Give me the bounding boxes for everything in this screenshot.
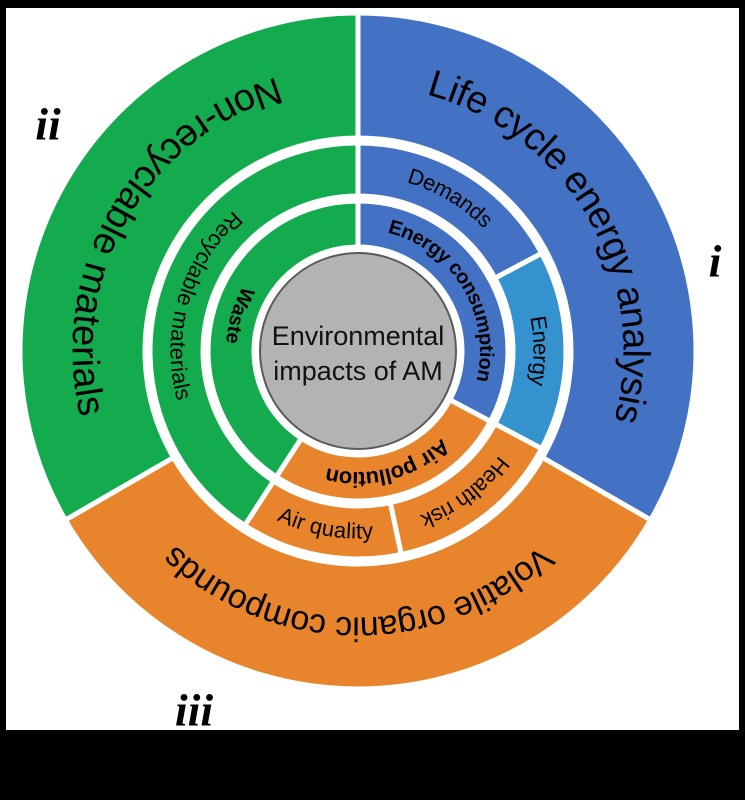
segment-label: Energy [526, 314, 554, 388]
figure-canvas: Energy consumptionAir pollutionWasteDema… [6, 8, 739, 730]
roman-numeral-iii: iii [175, 685, 214, 730]
center-title-line2: impacts of AM [273, 356, 443, 386]
roman-numeral-ii: ii [35, 99, 61, 150]
figure-stage: Energy consumptionAir pollutionWasteDema… [0, 0, 745, 800]
center-title-line1: Environmental [272, 321, 445, 351]
roman-numeral-i: i [709, 236, 722, 287]
sunburst-diagram: Energy consumptionAir pollutionWasteDema… [6, 8, 739, 730]
